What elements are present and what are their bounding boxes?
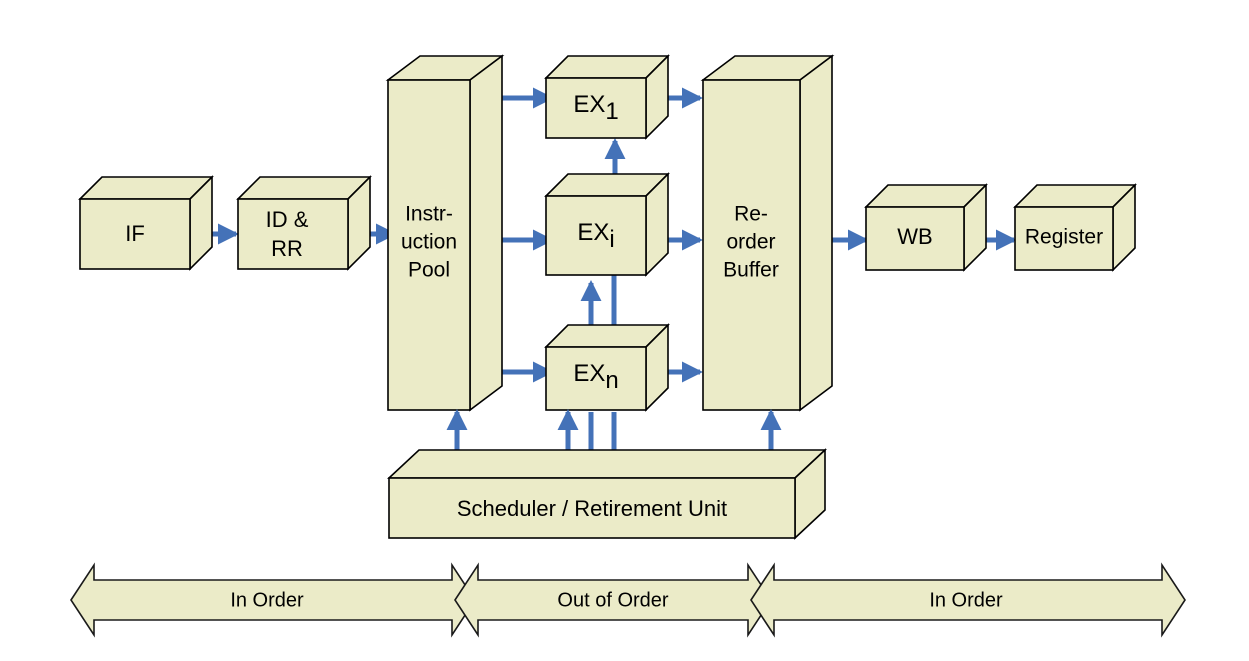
register-label: Register (1025, 226, 1103, 249)
block-reorder-buffer[interactable]: Re- order Buffer (703, 56, 832, 410)
legend-out-of-order: Out of Order (455, 565, 771, 635)
block-ex1[interactable]: EX1 (546, 56, 668, 138)
rob-label-line3: Buffer (723, 259, 779, 282)
pool-side (470, 56, 502, 410)
ex1-label-sub: 1 (605, 98, 618, 125)
legend-middle-label: Out of Order (557, 589, 668, 611)
idrr-label-line1: ID & (266, 207, 309, 232)
wb-label: WB (897, 224, 932, 249)
if-label: IF (125, 221, 145, 246)
scheduler-top (389, 450, 825, 478)
ex1-label-base: EX (573, 91, 605, 118)
exi-label-base: EX (577, 219, 609, 246)
pool-label-line2: uction (401, 231, 457, 254)
block-exi[interactable]: EXi (546, 174, 668, 275)
exi-label-sub: i (609, 226, 614, 253)
exn-label-sub: n (605, 367, 618, 394)
rob-label-line2: order (726, 231, 775, 254)
block-scheduler[interactable]: Scheduler / Retirement Unit (389, 450, 825, 538)
rob-label-line1: Re- (734, 203, 768, 226)
idrr-label-line2: RR (271, 236, 303, 261)
legend-in-order-left: In Order (71, 565, 475, 635)
block-instruction-pool[interactable]: Instr- uction Pool (388, 56, 502, 410)
pipeline-diagram: IF ID & RR Instr- uction Pool EX1 (0, 0, 1249, 661)
legend-right-label: In Order (929, 589, 1003, 611)
block-exn[interactable]: EXn (546, 325, 668, 410)
scheduler-label: Scheduler / Retirement Unit (457, 496, 727, 521)
block-wb[interactable]: WB (866, 185, 986, 270)
block-register[interactable]: Register (1015, 185, 1135, 270)
legend-in-order-right: In Order (751, 565, 1185, 635)
diagram-canvas: IF ID & RR Instr- uction Pool EX1 (0, 0, 1249, 661)
block-id-rr[interactable]: ID & RR (238, 177, 370, 269)
pool-label-line3: Pool (408, 259, 450, 282)
pool-label-line1: Instr- (405, 203, 453, 226)
legend-left-label: In Order (230, 589, 304, 611)
block-if[interactable]: IF (80, 177, 212, 269)
exn-label-base: EX (573, 360, 605, 387)
rob-side (800, 56, 832, 410)
